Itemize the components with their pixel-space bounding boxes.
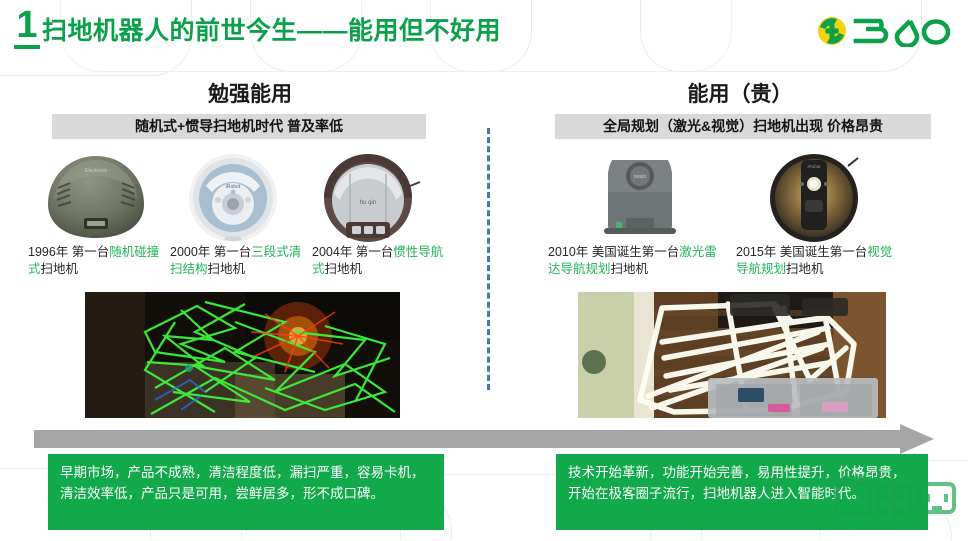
caption-right-1-plain2: 扫地机 — [611, 262, 649, 276]
caption-right-1: 2010年 美国诞生第一台激光雷达导航规划扫地机 — [548, 244, 720, 278]
note-right: 技术开始革新，功能开始完善，易用性提升，价格昂贵，开始在极客圈子流行，扫地机器人… — [556, 454, 928, 530]
note-left: 早期市场，产品不成熟，清洁程度低，漏扫严重，容易卡机，清洁效率低，产品只是可用，… — [48, 454, 444, 530]
caption-left-1-plain2: 扫地机 — [41, 262, 79, 276]
subbar-right: 全局规划（激光&视觉）扫地机出现 价格昂贵 — [555, 114, 931, 139]
svg-text:iRobot: iRobot — [226, 184, 241, 190]
svg-text:Electrolux: Electrolux — [85, 168, 107, 174]
caption-right-1-plain1: 2010年 美国诞生第一台 — [548, 245, 679, 259]
right-arrow-icon — [34, 424, 934, 454]
caption-left-3-plain1: 2004年 第一台 — [312, 245, 393, 259]
robot-vacuum-roomba-980-vision-icon: iRobot — [768, 152, 860, 244]
robot-vacuum-roomba-400-icon: iRobot — [178, 152, 288, 244]
column-title-right: 能用（贵） — [570, 78, 910, 108]
photo-planned-zigzag-path — [578, 292, 886, 418]
caption-left-2: 2000年 第一台三段式清扫结构扫地机 — [170, 244, 310, 278]
slide-number-value: 1 — [12, 6, 42, 44]
caption-left-2-plain1: 2000年 第一台 — [170, 245, 251, 259]
vertical-dashed-divider — [487, 128, 490, 390]
slide-number: 1 — [12, 6, 42, 49]
caption-left-2-plain2: 扫地机 — [208, 262, 246, 276]
svg-text:neato: neato — [634, 174, 647, 180]
robot-vacuum-electrolux-trilobite-icon: Electrolux — [40, 150, 152, 242]
caption-left-3-plain2: 扫地机 — [325, 262, 363, 276]
caption-right-2-plain2: 扫地机 — [786, 262, 824, 276]
robot-vacuum-neato-lidar-icon: neato — [592, 160, 688, 240]
subbar-left: 随机式+惯导扫地机时代 普及率低 — [52, 114, 426, 139]
page-title: 扫地机器人的前世今生——能用但不好用 — [42, 11, 501, 47]
slide-header: 1 扫地机器人的前世今生——能用但不好用 — [0, 0, 968, 60]
svg-text:iRobot: iRobot — [807, 164, 821, 169]
caption-left-1: 1996年 第一台随机碰撞式扫地机 — [28, 244, 168, 278]
svg-text:hu qin: hu qin — [360, 200, 376, 206]
column-title-left: 勉强能用 — [80, 78, 420, 108]
360-plus-logo-icon — [816, 15, 952, 47]
planned-zigzag-light-trail-photo — [578, 292, 886, 418]
photo-random-bounce-path — [85, 292, 400, 418]
brand-logo-360 — [816, 15, 952, 47]
robot-vacuum-inertial-nav-icon: hu qin — [312, 152, 424, 244]
caption-left-1-plain1: 1996年 第一台 — [28, 245, 109, 259]
caption-right-2: 2015年 美国诞生第一台视觉导航规划扫地机 — [736, 244, 898, 278]
caption-right-2-plain1: 2015年 美国诞生第一台 — [736, 245, 867, 259]
caption-left-3: 2004年 第一台惯性导航式扫地机 — [312, 244, 452, 278]
timeline-arrow — [34, 424, 934, 454]
random-bounce-light-trail-photo — [85, 292, 400, 418]
